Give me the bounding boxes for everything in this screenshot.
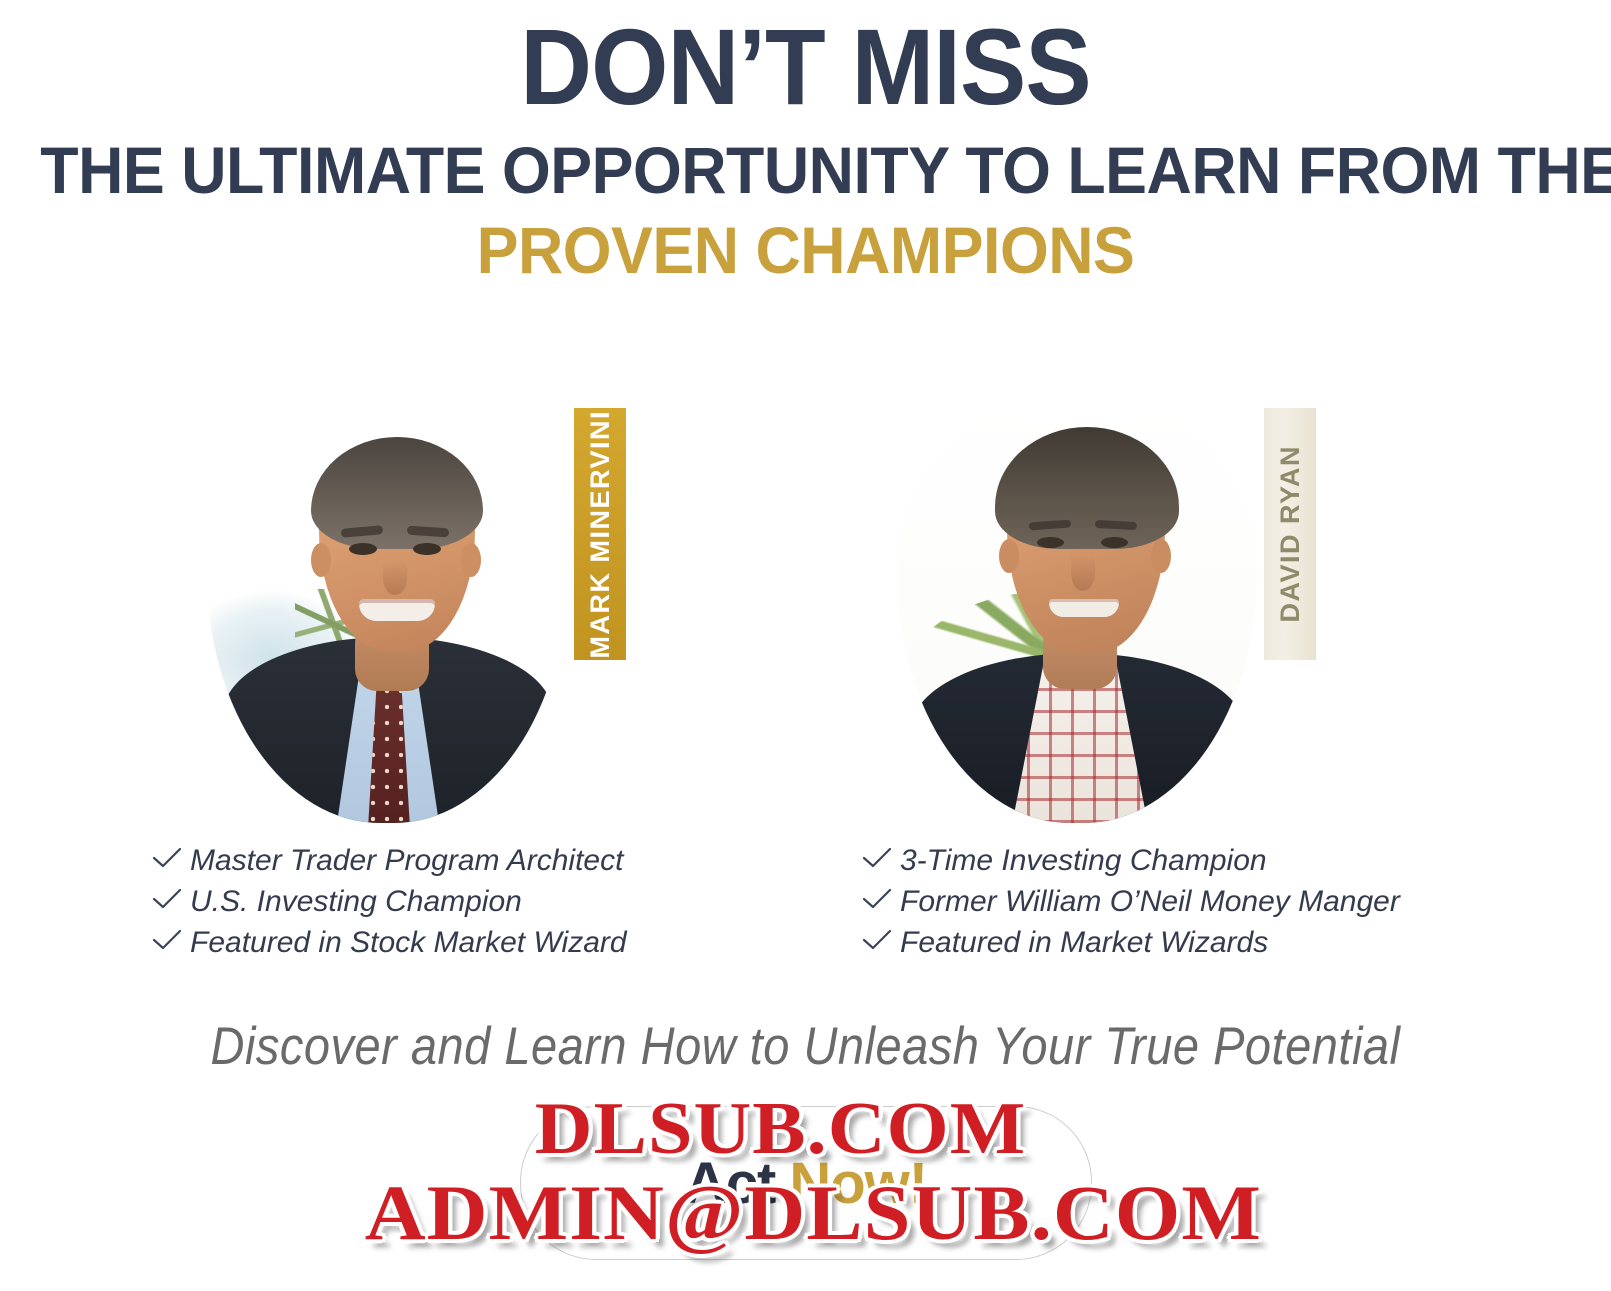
list-item: U.S. Investing Champion [152, 881, 792, 922]
check-icon [152, 846, 190, 870]
ear-left [311, 543, 331, 577]
list-item: Master Trader Program Architect [152, 840, 792, 881]
headline-line-3: PROVEN CHAMPIONS [40, 212, 1570, 288]
eye-left [349, 543, 377, 555]
headline-line-2: THE ULTIMATE OPPORTUNITY TO LEARN FROM T… [40, 132, 1570, 208]
credential-label: U.S. Investing Champion [190, 881, 522, 922]
speaker-photo-david-ryan [897, 393, 1257, 823]
ear-left [999, 539, 1019, 573]
check-icon [152, 928, 190, 952]
credential-label: 3-Time Investing Champion [900, 840, 1267, 881]
headline-line-1: DON’T MISS [64, 8, 1546, 126]
check-icon [152, 887, 190, 911]
list-item: 3-Time Investing Champion [862, 840, 1522, 881]
speaker-name-label: DAVID RYAN [1275, 445, 1306, 623]
ear-right [1151, 539, 1171, 573]
credential-label: Featured in Stock Market Wizard [190, 922, 627, 963]
speaker-photo-mark-minervini [207, 393, 567, 823]
list-item: Featured in Market Wizards [862, 922, 1522, 963]
speaker-card-mark-minervini: MARK MINERVINI [155, 375, 625, 830]
watermark-email: ADMIN@DLSUB.COM [365, 1168, 1262, 1258]
eye-left [1037, 537, 1064, 548]
list-item: Featured in Stock Market Wizard [152, 922, 792, 963]
speaker-name-banner-mark-minervini: MARK MINERVINI [574, 408, 626, 660]
headline-block: DON’T MISS THE ULTIMATE OPPORTUNITY TO L… [0, 0, 1611, 288]
credential-label: Featured in Market Wizards [900, 922, 1268, 963]
speaker-card-david-ryan: DAVID RYAN [845, 375, 1315, 830]
check-icon [862, 846, 900, 870]
speaker-name-banner-david-ryan: DAVID RYAN [1264, 408, 1316, 660]
tagline: Discover and Learn How to Unleash Your T… [0, 1015, 1611, 1078]
speakers-section: MARK MINERVINI DAVID RYAN [0, 375, 1611, 835]
check-icon [862, 887, 900, 911]
list-item: Former William O’Neil Money Manger [862, 881, 1522, 922]
smile-mouth [359, 599, 435, 621]
credential-label: Former William O’Neil Money Manger [900, 881, 1400, 922]
nose [1071, 555, 1095, 591]
speaker-name-label: MARK MINERVINI [585, 410, 616, 659]
credentials-list-david-ryan: 3-Time Investing Champion Former William… [862, 840, 1522, 970]
smile-mouth [1049, 599, 1119, 617]
nose [383, 561, 407, 595]
credentials-list-mark-minervini: Master Trader Program Architect U.S. Inv… [152, 840, 792, 970]
watermark-site: DLSUB.COM [535, 1087, 1027, 1172]
check-icon [862, 928, 900, 952]
ear-right [461, 543, 481, 577]
eye-right [413, 543, 441, 555]
credential-label: Master Trader Program Architect [190, 840, 623, 881]
eye-right [1101, 537, 1128, 548]
